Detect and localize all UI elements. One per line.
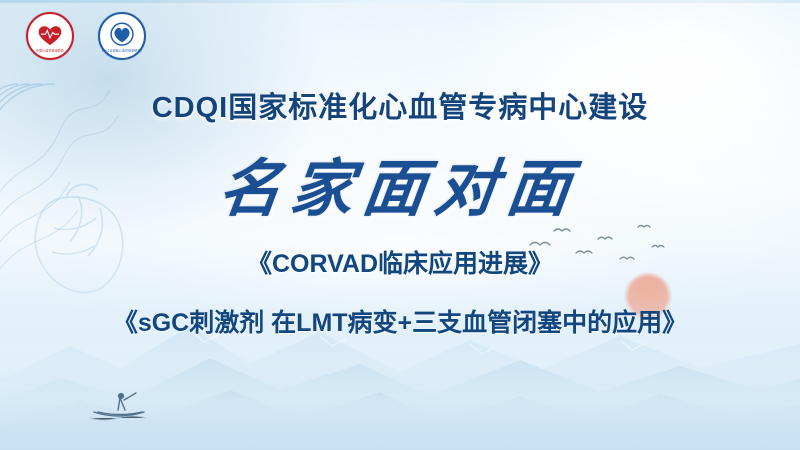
text-content: CDQI国家标准化心血管专病中心建设 名家面对面 《CORVAD临床应用进展》 … bbox=[0, 0, 800, 450]
subtitle-line-1: 《CORVAD临床应用进展》 bbox=[0, 244, 800, 280]
page-title: CDQI国家标准化心血管专病中心建设 bbox=[0, 84, 800, 126]
poster-canvas: 中国心血管健康联盟 苏州工业园区心血管健康研究院 CDQI国家标准化心血管专病中… bbox=[0, 0, 800, 450]
subtitle-line-2: 《sGC刺激剂 在LMT病变+三支血管闭塞中的应用》 bbox=[0, 303, 800, 339]
calligraphy-title: 名家面对面 bbox=[0, 138, 800, 228]
